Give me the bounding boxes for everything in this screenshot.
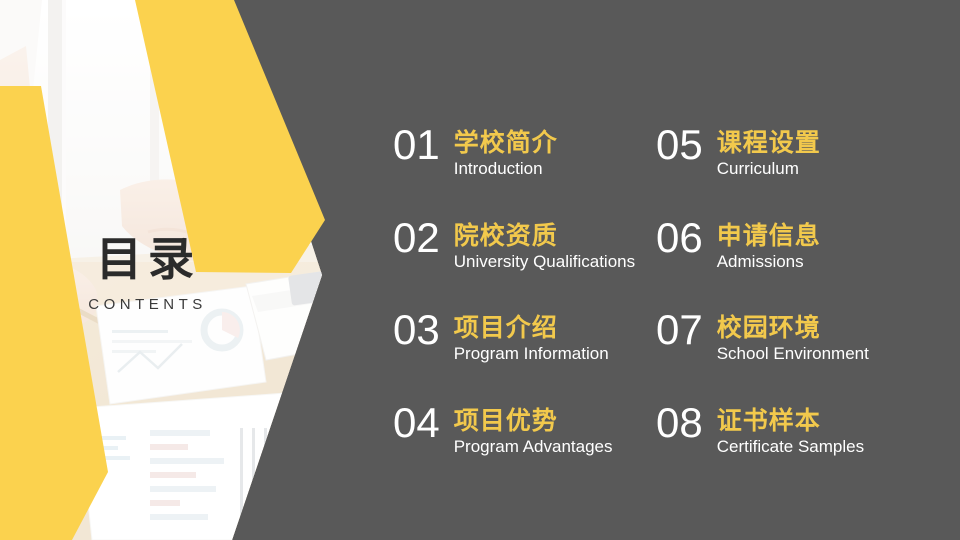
toc-title-cn: 项目优势 xyxy=(454,406,613,435)
page-title: 目录 xyxy=(0,236,290,282)
toc-labels: 项目优势 Program Advantages xyxy=(454,404,613,458)
toc-item-03[interactable]: 03 项目介绍 Program Information xyxy=(393,311,656,404)
toc-number: 06 xyxy=(656,219,703,258)
toc-item-07[interactable]: 07 校园环境 School Environment xyxy=(656,311,953,404)
toc-item-05[interactable]: 05 课程设置 Curriculum xyxy=(656,126,953,219)
toc-title-cn: 学校简介 xyxy=(454,128,558,157)
toc-number: 02 xyxy=(393,219,440,258)
toc-labels: 课程设置 Curriculum xyxy=(717,126,821,180)
toc-number: 05 xyxy=(656,126,703,165)
toc-title-cn: 项目介绍 xyxy=(454,313,609,342)
toc-labels: 校园环境 School Environment xyxy=(717,311,869,365)
contents-heading-group: 目录 CONTENTS xyxy=(0,236,290,313)
toc-item-01[interactable]: 01 学校简介 Introduction xyxy=(393,126,656,219)
toc-item-04[interactable]: 04 项目优势 Program Advantages xyxy=(393,404,656,497)
toc-title-cn: 院校资质 xyxy=(454,221,635,250)
toc-labels: 证书样本 Certificate Samples xyxy=(717,404,864,458)
toc-number: 07 xyxy=(656,311,703,350)
toc-title-en: Certificate Samples xyxy=(717,436,864,458)
toc-title-en: Program Advantages xyxy=(454,436,613,458)
left-decorative-panel: 目录 CONTENTS xyxy=(0,0,400,540)
toc-number: 08 xyxy=(656,404,703,443)
toc-number: 04 xyxy=(393,404,440,443)
toc-labels: 申请信息 Admissions xyxy=(717,219,821,273)
toc-number: 01 xyxy=(393,126,440,165)
toc-item-06[interactable]: 06 申请信息 Admissions xyxy=(656,219,953,312)
toc-title-en: School Environment xyxy=(717,343,869,365)
page-subtitle: CONTENTS xyxy=(0,296,290,313)
toc-labels: 院校资质 University Qualifications xyxy=(454,219,635,273)
toc-number: 03 xyxy=(393,311,440,350)
toc-item-08[interactable]: 08 证书样本 Certificate Samples xyxy=(656,404,953,497)
toc-title-cn: 校园环境 xyxy=(717,313,869,342)
toc-title-cn: 课程设置 xyxy=(717,128,821,157)
toc-labels: 学校简介 Introduction xyxy=(454,126,558,180)
toc-title-cn: 证书样本 xyxy=(717,406,864,435)
toc-title-en: Curriculum xyxy=(717,158,821,180)
toc-title-en: Introduction xyxy=(454,158,558,180)
toc-labels: 项目介绍 Program Information xyxy=(454,311,609,365)
slide-canvas: 目录 CONTENTS 01 学校简介 Introduction 05 课程设置… xyxy=(0,0,960,540)
toc-title-cn: 申请信息 xyxy=(717,221,821,250)
toc-title-en: Program Information xyxy=(454,343,609,365)
toc-item-02[interactable]: 02 院校资质 University Qualifications xyxy=(393,219,656,312)
toc-title-en: University Qualifications xyxy=(454,251,635,273)
table-of-contents: 01 学校简介 Introduction 05 课程设置 Curriculum … xyxy=(393,126,953,496)
toc-title-en: Admissions xyxy=(717,251,821,273)
